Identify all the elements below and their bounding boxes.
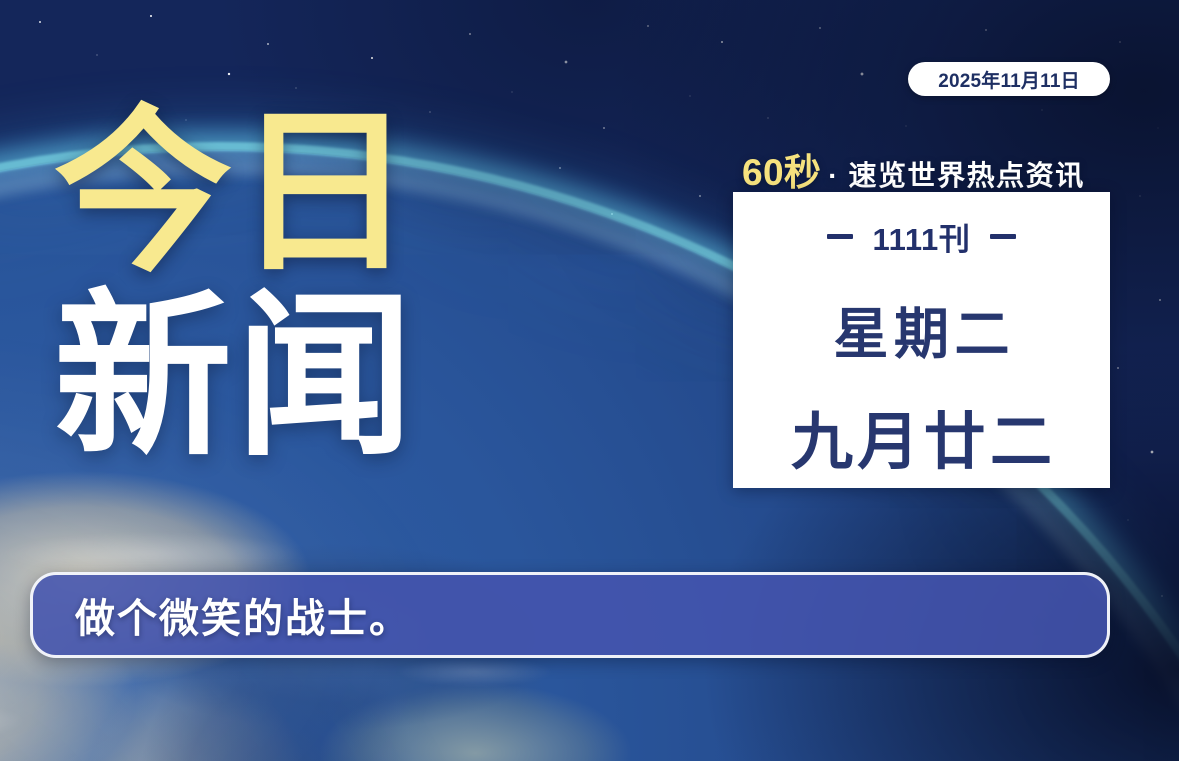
- tagline-highlight: 60秒: [742, 142, 821, 196]
- date-badge: 2025年11月11日: [908, 62, 1110, 96]
- news-poster: 今日 新闻 2025年11月11日 60秒 · 速览世界热点资讯 1111刊 星…: [0, 0, 1179, 761]
- lunar-date-label: 九月廿二: [787, 391, 1057, 481]
- title-line-today: 今日: [54, 104, 484, 282]
- tagline: 60秒 · 速览世界热点资讯: [742, 142, 1085, 196]
- dash-right-icon: [990, 234, 1016, 239]
- issue-number: 1111刊: [873, 214, 971, 259]
- date-info-card: 1111刊 星期二 九月廿二: [733, 192, 1110, 488]
- weekday-label: 星期二: [828, 289, 1015, 369]
- tagline-rest: · 速览世界热点资讯: [828, 154, 1085, 194]
- quote-bar: 做个微笑的战士。: [30, 572, 1110, 658]
- quote-text: 做个微笑的战士。: [75, 586, 411, 644]
- poster-title: 今日 新闻: [54, 104, 484, 466]
- issue-row: 1111刊: [827, 214, 1017, 259]
- title-line-news: 新闻: [54, 288, 484, 466]
- dash-left-icon: [827, 234, 853, 239]
